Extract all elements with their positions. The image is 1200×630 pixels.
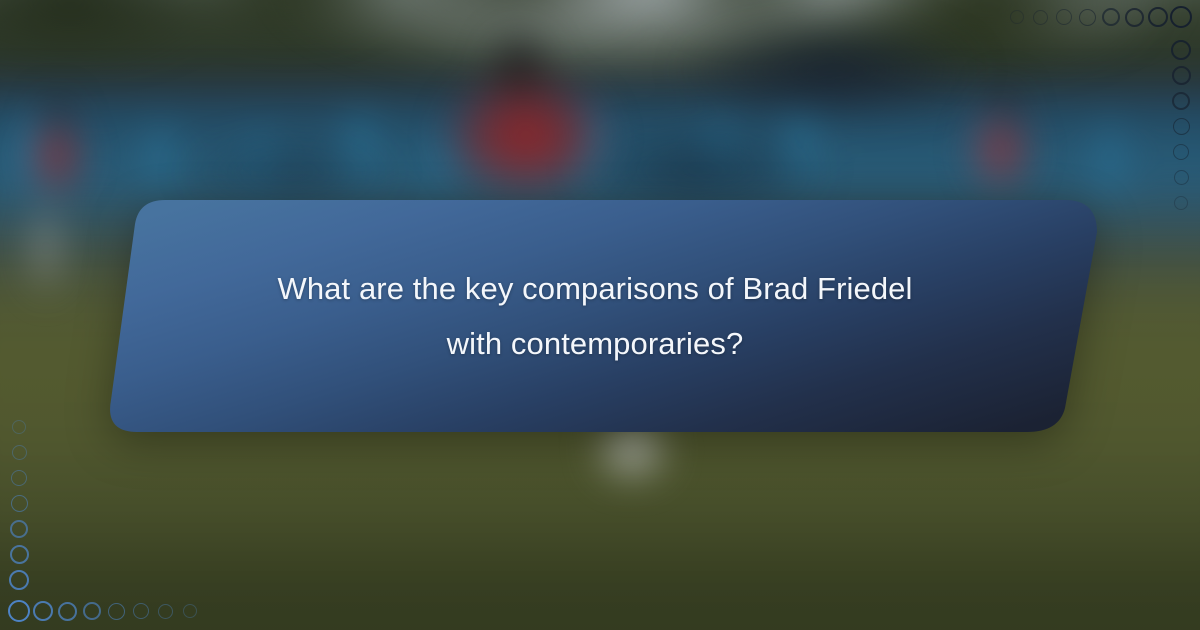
- question-line-2: with contemporaries?: [447, 316, 744, 371]
- question-card: What are the key comparisons of Brad Fri…: [90, 192, 1110, 440]
- screenshot-canvas: What are the key comparisons of Brad Fri…: [0, 0, 1200, 630]
- question-line-1: What are the key comparisons of Brad Fri…: [277, 261, 912, 316]
- question-text-block: What are the key comparisons of Brad Fri…: [90, 192, 1110, 440]
